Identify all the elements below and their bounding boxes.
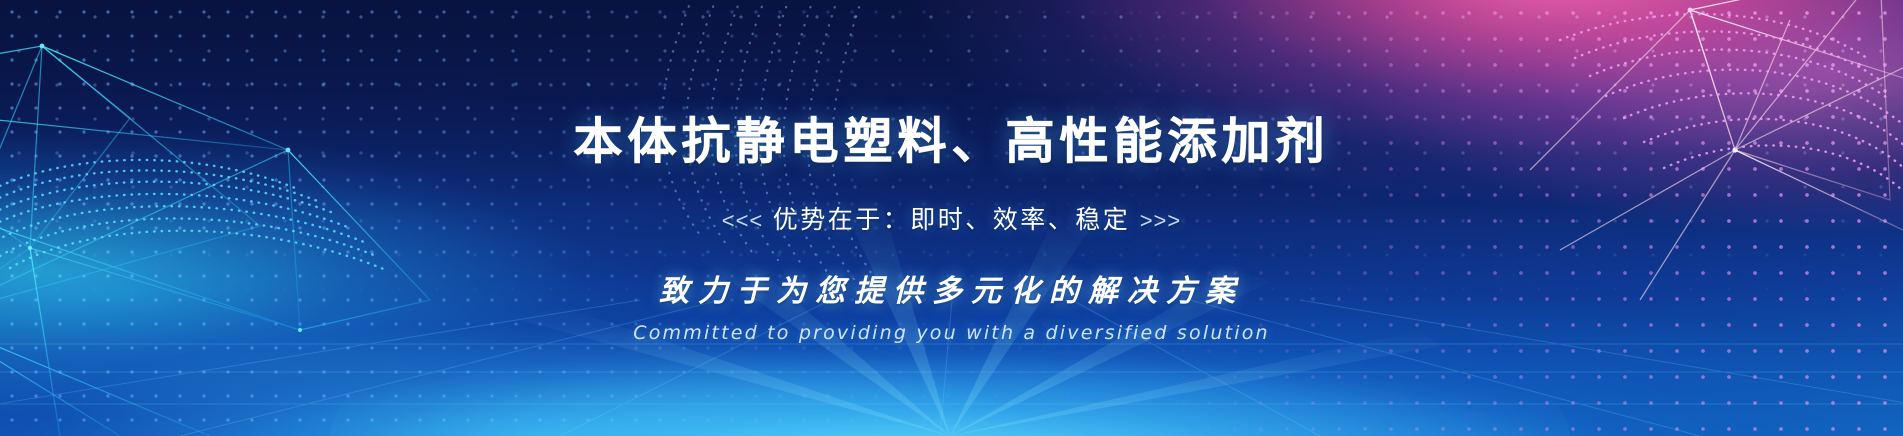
left-chevrons-icon: <<< xyxy=(722,208,764,233)
banner-subtitle: <<< 优势在于：即时、效率、稳定 >>> xyxy=(722,200,1182,236)
right-chevrons-icon: >>> xyxy=(1140,208,1182,233)
banner-text-block: 本体抗静电塑料、高性能添加剂 <<< 优势在于：即时、效率、稳定 >>> 致力于… xyxy=(0,0,1903,436)
hero-banner: 本体抗静电塑料、高性能添加剂 <<< 优势在于：即时、效率、稳定 >>> 致力于… xyxy=(0,0,1903,436)
banner-headline: 本体抗静电塑料、高性能添加剂 xyxy=(573,118,1329,167)
banner-subtitle-text: 优势在于：即时、效率、稳定 xyxy=(773,206,1131,234)
banner-slogan-en: Committed to providing you with a divers… xyxy=(633,322,1270,344)
banner-slogan-cn: 致力于为您提供多元化的解决方案 xyxy=(659,266,1244,310)
